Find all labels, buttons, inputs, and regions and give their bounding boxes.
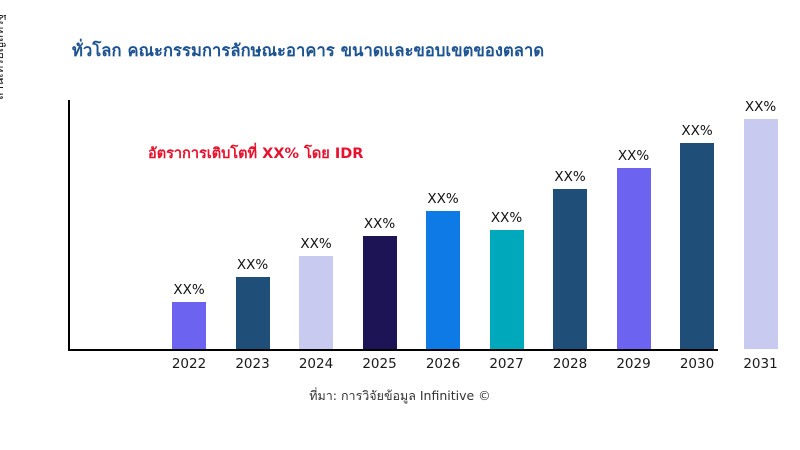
bar-rect-2024[interactable] <box>299 256 333 349</box>
chart-title: ทั่วโลก คณะกรรมการลักษณะอาคาร ขนาดและขอบ… <box>72 38 772 64</box>
bar-2028[interactable]: XX% <box>553 163 587 349</box>
x-tick-2026: 2026 <box>413 356 473 372</box>
bar-rect-2029[interactable] <box>617 168 651 349</box>
bar-rect-2031[interactable] <box>744 119 778 349</box>
bar-2026[interactable]: XX% <box>426 185 460 349</box>
bar-2023[interactable]: XX% <box>236 251 270 349</box>
bar-rect-2025[interactable] <box>363 236 397 349</box>
x-tick-2030: 2030 <box>667 356 727 372</box>
bar-value-label-2024: XX% <box>300 236 331 252</box>
bar-value-label-2029: XX% <box>618 148 649 164</box>
growth-rate-annotation: อัตราการเติบโตที่ XX% โดย IDR <box>148 142 363 165</box>
bar-rect-2023[interactable] <box>236 277 270 349</box>
x-tick-2025: 2025 <box>350 356 410 372</box>
bar-rect-2027[interactable] <box>490 230 524 349</box>
bar-value-label-2026: XX% <box>427 191 458 207</box>
plot-area: XX%XX%XX%XX%XX%XX%XX%XX%XX%XX% <box>68 100 785 350</box>
y-axis-line <box>68 100 70 350</box>
bar-rect-2028[interactable] <box>553 189 587 349</box>
bar-value-label-2028: XX% <box>554 169 585 185</box>
x-tick-2031: 2031 <box>731 356 791 372</box>
bar-2030[interactable]: XX% <box>680 117 714 349</box>
source-note: ที่มา: การวิจัยข้อมูล Infinitive © <box>0 386 800 406</box>
bar-2031[interactable]: XX% <box>744 93 778 349</box>
bar-2022[interactable]: XX% <box>172 276 206 349</box>
bar-value-label-2030: XX% <box>681 123 712 139</box>
y-axis-label: ล้านเหรียญสหรัฐ <box>0 14 9 100</box>
bar-value-label-2022: XX% <box>173 282 204 298</box>
bar-rect-2030[interactable] <box>680 143 714 349</box>
bar-rect-2026[interactable] <box>426 211 460 349</box>
x-tick-2028: 2028 <box>540 356 600 372</box>
x-axis-line <box>68 349 718 351</box>
x-tick-2029: 2029 <box>604 356 664 372</box>
bar-value-label-2023: XX% <box>237 257 268 273</box>
bar-2029[interactable]: XX% <box>617 142 651 349</box>
bar-value-label-2031: XX% <box>745 99 776 115</box>
x-tick-2023: 2023 <box>223 356 283 372</box>
bar-value-label-2025: XX% <box>364 216 395 232</box>
bar-2024[interactable]: XX% <box>299 230 333 349</box>
x-tick-2024: 2024 <box>286 356 346 372</box>
bar-value-label-2027: XX% <box>491 210 522 226</box>
x-tick-2022: 2022 <box>159 356 219 372</box>
bar-rect-2022[interactable] <box>172 302 206 349</box>
x-tick-2027: 2027 <box>477 356 537 372</box>
bar-2027[interactable]: XX% <box>490 204 524 349</box>
bar-2025[interactable]: XX% <box>363 210 397 349</box>
bar-chart: ทั่วโลก คณะกรรมการลักษณะอาคาร ขนาดและขอบ… <box>0 0 800 450</box>
